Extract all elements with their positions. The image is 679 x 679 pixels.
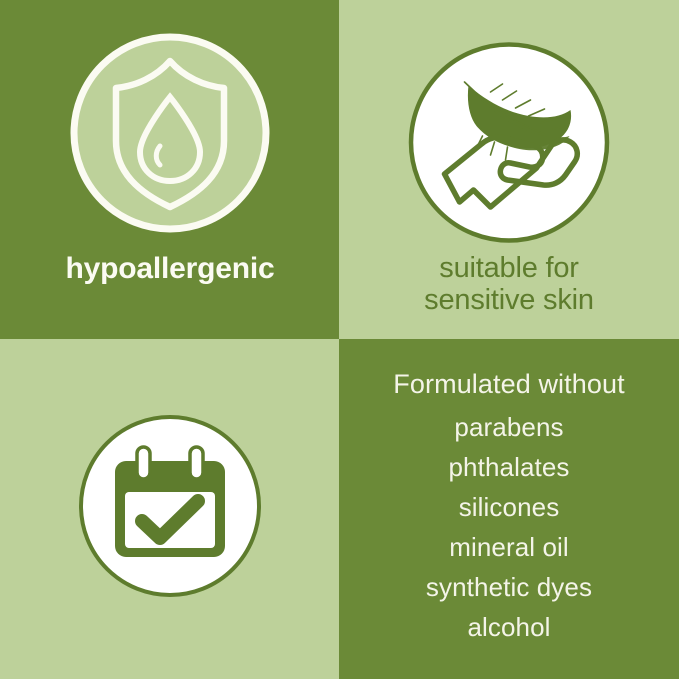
formulated-without-item: synthetic dyes [339,574,679,600]
feather-in-hand-icon [407,40,612,245]
panel-hypoallergenic: hypoallergenic [0,0,340,340]
calendar-check-icon [77,413,263,599]
panel-sensitive-skin: suitable for sensitive skin [339,0,679,340]
caption-hypoallergenic: hypoallergenic [0,252,340,286]
panel-formulated-without: Formulated without parabens phthalates s… [339,339,679,679]
product-claims-infographic: hypoallergenic [0,0,679,679]
shield-droplet-icon [70,33,270,233]
formulated-without-item: alcohol [339,614,679,640]
formulated-without-item: mineral oil [339,534,679,560]
formulated-without-item: phthalates [339,454,679,480]
caption-sensitive-skin-line1: suitable for [339,252,679,284]
formulated-without-item: parabens [339,414,679,440]
caption-sensitive-skin-line2: sensitive skin [339,284,679,316]
formulated-without-heading: Formulated without [339,371,679,398]
caption-sensitive-skin: suitable for sensitive skin [339,252,679,317]
panel-daily-use: for daily use [0,339,340,679]
formulated-without-item: silicones [339,494,679,520]
formulated-without-list: Formulated without parabens phthalates s… [339,371,679,640]
